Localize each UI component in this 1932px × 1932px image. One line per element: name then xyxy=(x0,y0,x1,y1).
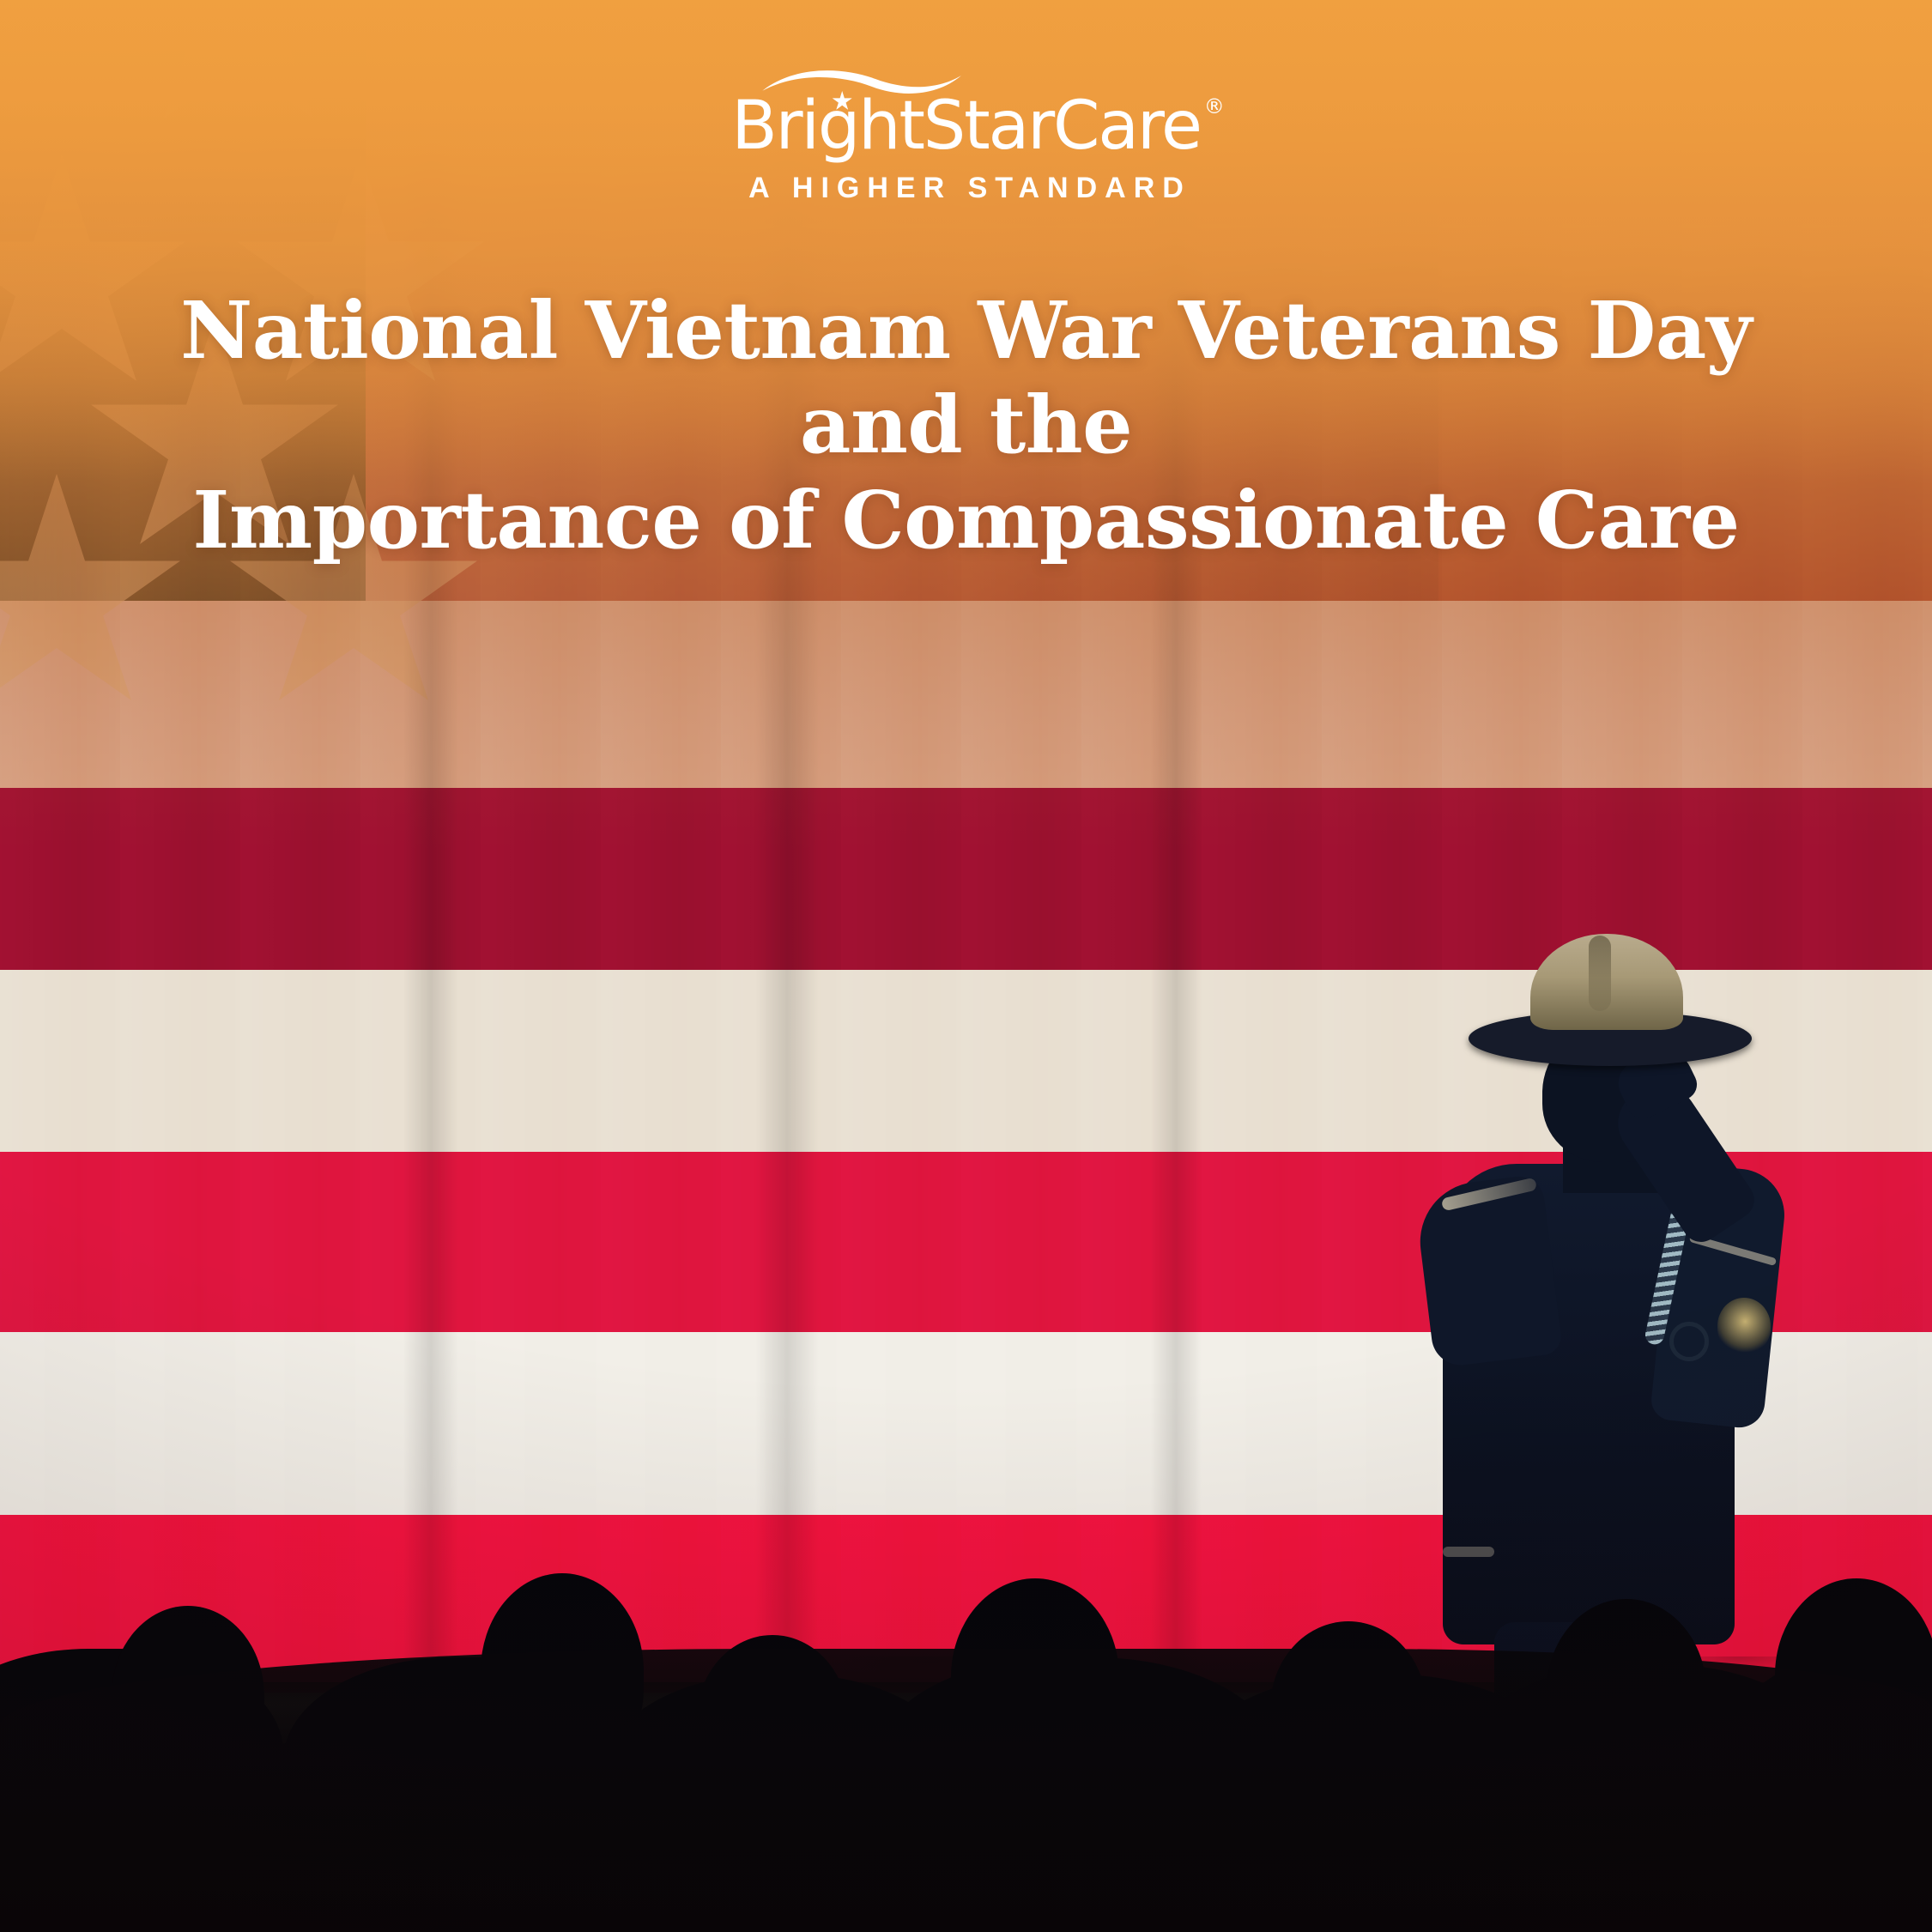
flag-fold xyxy=(1150,0,1202,1693)
soldier-arm-patch-icon xyxy=(1717,1298,1771,1354)
flag-fold xyxy=(755,0,819,1693)
campaign-hat-crease xyxy=(1589,936,1611,1011)
flag-fold xyxy=(403,0,458,1693)
page-title-line-1: National Vietnam War Veterans Day and th… xyxy=(103,283,1829,473)
soldier-left-shoulder xyxy=(1414,1174,1563,1369)
page-title-line-2: Importance of Compassionate Care xyxy=(103,473,1829,567)
logo-wordmark-text: BrightStarCare xyxy=(731,88,1201,165)
veterans-day-social-graphic: BrightStarCare ® A HIGHER STANDARD Natio… xyxy=(0,0,1932,1932)
soldier-cord-loop xyxy=(1669,1322,1709,1361)
audience-silhouettes xyxy=(0,1451,1932,1932)
registered-trademark-icon: ® xyxy=(1204,96,1225,117)
audience-foreground-mass xyxy=(0,1649,1932,1932)
logo-tagline: A HIGHER STANDARD xyxy=(0,172,1932,205)
logo-wordmark: BrightStarCare ® xyxy=(731,93,1201,160)
page-title: National Vietnam War Veterans Day and th… xyxy=(103,283,1829,567)
brightstarcare-logo[interactable]: BrightStarCare ® A HIGHER STANDARD xyxy=(0,93,1932,205)
